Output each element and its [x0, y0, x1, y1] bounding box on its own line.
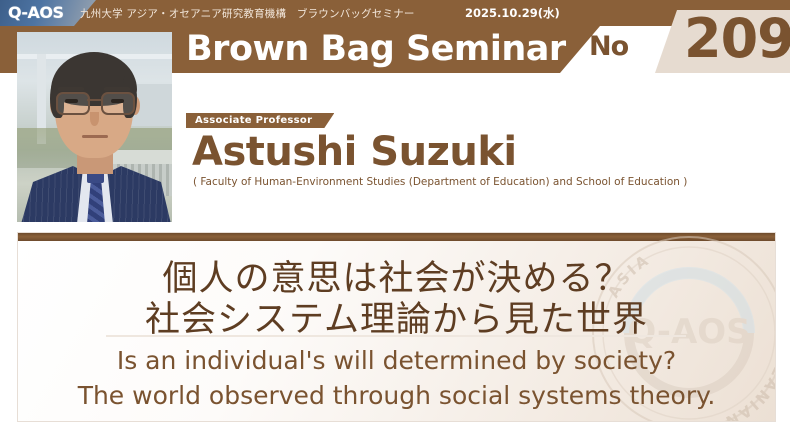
- seminar-number-value: 209: [684, 8, 790, 70]
- speaker-name: Astushi Suzuki: [192, 128, 517, 176]
- photo-eyebrow-left: [58, 87, 84, 91]
- talk-title-english: Is an individual's will determined by so…: [18, 343, 775, 413]
- speaker-rank-ribbon: Associate Professor: [186, 113, 334, 128]
- seminar-date: 2025.10.29(水): [465, 5, 560, 21]
- seminar-poster: Q-AOS 九州大学 アジア・オセアニア研究教育機構 ブラウンバッグセミナー 2…: [0, 0, 790, 439]
- top-header-strip: Q-AOS 九州大学 アジア・オセアニア研究教育機構 ブラウンバッグセミナー 2…: [0, 0, 790, 26]
- photo-mouth: [82, 135, 108, 138]
- glasses-bridge: [87, 99, 101, 101]
- photo-nose: [90, 112, 99, 126]
- title-divider: [106, 335, 686, 337]
- talk-title-japanese: 個人の意思は社会が決める？ 社会システム理論から見た世界: [18, 259, 775, 341]
- glasses-lens-left: [56, 92, 90, 115]
- glasses-lens-right: [101, 92, 135, 115]
- speaker-photo: [17, 32, 172, 222]
- talk-title-panel: ASIA OCEANIAN STUDIES Q-AOS 個人の意思は社会が決める…: [17, 232, 776, 422]
- photo-eye-right: [111, 99, 124, 103]
- qaos-logo-text: Q-AOS: [8, 3, 64, 22]
- photo-eyebrow-right: [104, 87, 130, 91]
- seminar-title: Brown Bag Seminar: [186, 27, 566, 71]
- speaker-rank-label: Associate Professor: [195, 115, 312, 126]
- organization-label: 九州大学 アジア・オセアニア研究教育機構 ブラウンバッグセミナー: [80, 6, 415, 21]
- speaker-affiliation: ( Faculty of Human-Environment Studies (…: [193, 176, 687, 188]
- panel-top-bar: [18, 233, 775, 241]
- seminar-number-label: No: [589, 31, 628, 62]
- photo-eye-left: [65, 99, 78, 103]
